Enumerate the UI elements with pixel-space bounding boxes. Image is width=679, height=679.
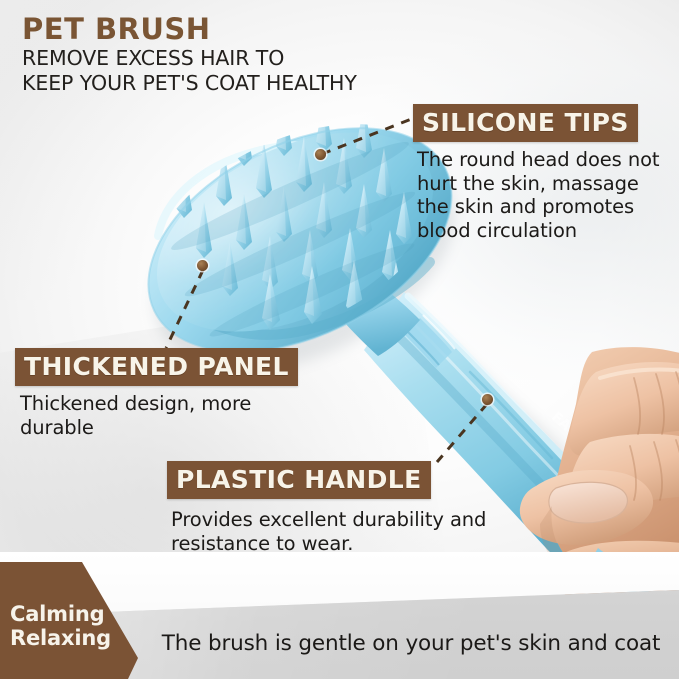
page-title: PET BRUSH [22, 14, 452, 44]
hand-holding-brush [0, 0, 679, 679]
thumbnail [549, 482, 628, 523]
callout-dot-thickened [197, 260, 208, 271]
hand-finger-index [569, 362, 679, 456]
silicone-tips-group [166, 96, 436, 345]
brand-mark: FACTUR [548, 409, 610, 466]
callout-dot-silicone [315, 149, 326, 160]
callout-badge-silicone-tips: SILICONE TIPS [413, 104, 638, 142]
handle-joint-ring [404, 318, 452, 368]
page-subtitle-line-2: KEEP YOUR PET'S COAT HEALTHY [22, 71, 452, 95]
brush-neck [322, 268, 420, 356]
leader-line-plastic [437, 404, 487, 462]
callout-badge-thickened-panel: THICKENED PANEL [15, 348, 298, 386]
callout-leader-lines [0, 0, 679, 679]
footer-brown-tab-label: Calming Relaxing [10, 603, 140, 650]
header-block: PET BRUSH REMOVE EXCESS HAIR TO KEEP YOU… [22, 14, 452, 95]
leader-line-silicone [322, 118, 414, 154]
hand-finger-middle [565, 434, 679, 519]
callout-text-silicone-tips: The round head does not hurt the skin, m… [417, 148, 669, 242]
footer-tab-line-2: Relaxing [10, 627, 140, 651]
footer-tab-line-1: Calming [10, 603, 140, 627]
leader-line-thickened [166, 270, 203, 348]
hand-thumb [520, 470, 653, 545]
footer-tagline: The brush is gentle on your pet's skin a… [146, 631, 676, 656]
callout-text-thickened-panel: Thickened design, more durable [20, 392, 280, 439]
infographic-canvas: FACTUR [0, 0, 679, 679]
page-subtitle-line-1: REMOVE EXCESS HAIR TO [22, 46, 452, 70]
callout-badge-plastic-handle: PLASTIC HANDLE [167, 461, 431, 499]
pet-brush-product-image: FACTUR [0, 0, 679, 679]
callout-dot-plastic [482, 394, 493, 405]
callout-text-plastic-handle: Provides excellent durability and resist… [171, 508, 491, 555]
hand-palm [551, 347, 679, 600]
